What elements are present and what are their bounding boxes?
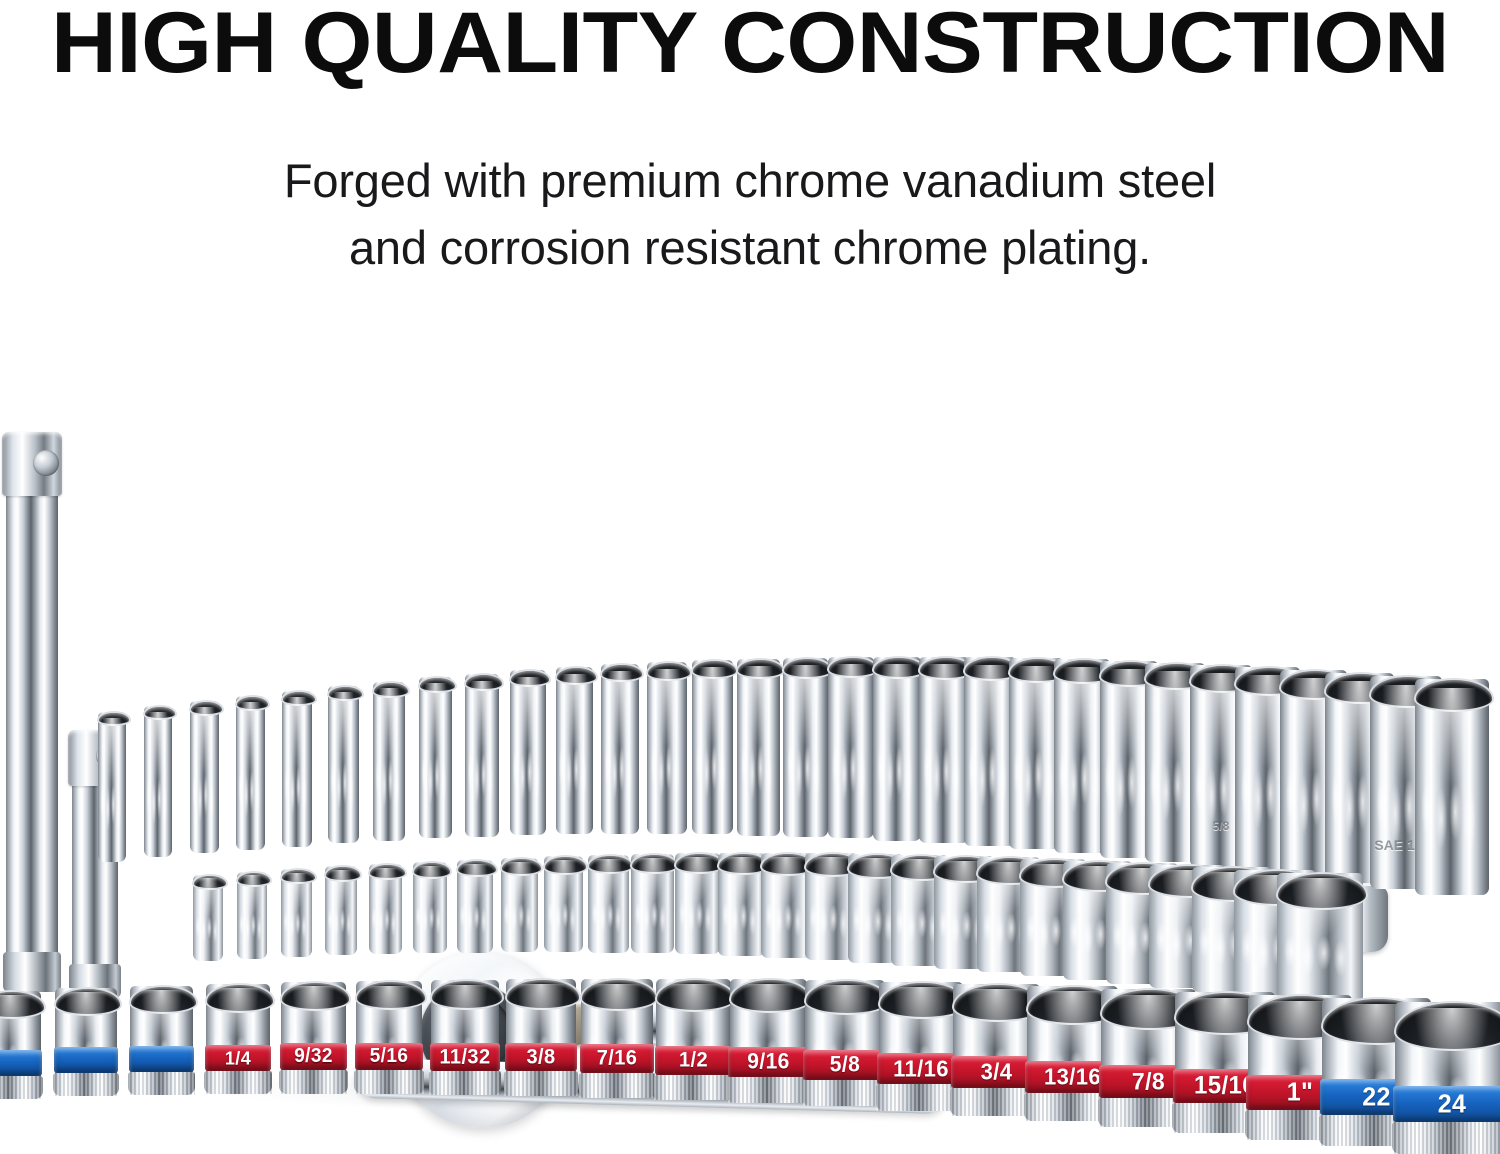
socket-hex-opening: [192, 874, 228, 890]
deep-socket: [556, 667, 593, 834]
socket-base-collar: [429, 1071, 501, 1095]
socket-barrel: [282, 691, 312, 847]
socket-barrel: [873, 657, 921, 841]
socket-base-collar: [0, 1076, 43, 1099]
socket-knurl-texture: [0, 1076, 43, 1099]
socket-size-label: 24: [1438, 1089, 1467, 1119]
socket-base-collar: [1392, 1122, 1500, 1154]
socket-barrel: [919, 657, 969, 843]
standard-socket: [544, 856, 583, 952]
socket-hex-opening: [600, 663, 644, 682]
deep-socket: [1415, 679, 1489, 895]
socket-hex-opening: [509, 669, 551, 687]
socket-barrel: [556, 667, 593, 834]
subtitle-line-1: Forged with premium chrome vanadium stee…: [0, 148, 1500, 215]
socket-hex-opening: [235, 695, 270, 711]
banded-socket: 24: [1395, 1002, 1500, 1154]
deep-socket: [373, 682, 405, 841]
deep-socket: [328, 686, 359, 843]
banded-socket: 3/8: [506, 979, 576, 1096]
socket-knurl-texture: [128, 1072, 195, 1095]
socket-hex-opening: [205, 983, 275, 1013]
socket-knurl-texture: [728, 1077, 810, 1103]
socket-hex-opening: [236, 871, 272, 887]
socket-base-collar: [279, 1070, 348, 1094]
socket-size-label: 9/16: [747, 1049, 789, 1074]
socket-hex-opening: [189, 700, 224, 716]
socket-base-collar: [204, 1071, 272, 1094]
extension-bar-female-end: [3, 952, 61, 992]
socket-size-label: 1": [1287, 1077, 1314, 1107]
page-title: HIGH QUALITY CONSTRUCTION: [0, 0, 1500, 88]
socket-hex-opening: [280, 981, 351, 1011]
socket-hex-opening: [827, 656, 879, 678]
socket-barrel: [601, 664, 639, 834]
standard-socket: [1277, 873, 1363, 1003]
socket-hex-opening: [97, 711, 131, 726]
banded-socket: 5/16: [356, 981, 422, 1094]
socket-barrel: [510, 670, 546, 835]
socket-hex-opening: [464, 673, 504, 691]
socket-size-label: 5/16: [370, 1045, 409, 1068]
socket-knurl-texture: [354, 1070, 424, 1094]
socket-base-collar: [654, 1075, 734, 1100]
socket-hex-opening: [327, 685, 364, 701]
socket-size-band-red: 9/16: [728, 1047, 808, 1077]
socket-size-label: 22: [1362, 1082, 1391, 1112]
socket-size-label: 11/16: [893, 1055, 949, 1082]
socket-base-collar: [354, 1070, 424, 1094]
socket-hex-opening: [804, 979, 890, 1015]
socket-barrel: [98, 712, 126, 862]
socket-hex-opening: [1414, 678, 1494, 712]
socket-hex-opening: [782, 657, 833, 679]
socket-hex-opening: [324, 865, 362, 882]
socket-barrel: [737, 659, 780, 836]
socket-hex-opening: [368, 863, 407, 880]
socket-size-band-red: 5/8: [803, 1050, 886, 1080]
socket-barrel: [328, 686, 359, 843]
socket-size-band-blue: [129, 1046, 195, 1072]
socket-size-label: 11/32: [440, 1045, 491, 1069]
socket-size-label: 13/16: [1044, 1063, 1101, 1090]
socket-size-label: 7/16: [597, 1046, 638, 1070]
socket-size-label: 1/4: [225, 1047, 251, 1069]
socket-hex-opening: [456, 859, 498, 877]
socket-knurl-texture: [279, 1070, 348, 1094]
product-feature-image: HIGH QUALITY CONSTRUCTION Forged with pr…: [0, 0, 1500, 1129]
socket-hex-opening: [691, 659, 738, 679]
socket-hex-opening: [129, 985, 198, 1014]
socket-size-band-blue: 24: [1393, 1086, 1500, 1122]
socket-size-band-blue: [0, 1050, 42, 1076]
socket-hex-opening: [655, 978, 736, 1012]
socket-base-collar: [53, 1073, 119, 1096]
socket-barrel: [419, 677, 452, 838]
standard-socket: [588, 855, 629, 953]
deep-socket: [873, 657, 921, 841]
standard-socket: [237, 872, 267, 959]
socket-base-collar: [504, 1071, 578, 1096]
subtitle-line-2: and corrosion resistant chrome plating.: [0, 215, 1500, 282]
deep-socket: [236, 696, 265, 850]
socket-knurl-texture: [654, 1075, 734, 1100]
deep-socket: [465, 674, 499, 837]
socket-hex-opening: [505, 978, 581, 1010]
socket-hex-opening: [500, 857, 543, 876]
deep-socket: [144, 706, 172, 857]
socket-set-photo: 5/8SAE 13/16: [0, 400, 1500, 1129]
extension-bar-shaft: [6, 462, 58, 972]
banded-socket: 7/16: [581, 979, 653, 1098]
standard-socket: [413, 862, 447, 953]
socket-hex-opening: [729, 978, 812, 1013]
socket-hex-opening: [587, 854, 634, 874]
standard-socket: [675, 853, 720, 954]
socket-size-band-red: 9/32: [280, 1043, 348, 1070]
socket-barrel: [647, 662, 687, 834]
standard-socket: [631, 854, 674, 953]
socket-size-band-blue: [54, 1047, 118, 1073]
socket-barrel: [236, 696, 265, 850]
socket-size-label: 9/32: [294, 1045, 333, 1068]
extension-bar-square-drive: [2, 432, 62, 496]
socket-size-label: 5/8: [830, 1052, 860, 1077]
socket-hex-opening: [143, 705, 177, 720]
socket-size-band-red: 7/16: [580, 1044, 655, 1073]
banded-socket: 11/32: [431, 980, 499, 1095]
socket-hex-opening: [418, 676, 457, 693]
socket-knurl-texture: [1392, 1122, 1500, 1154]
deep-socket: [692, 660, 733, 834]
socket-hex-opening: [280, 868, 317, 884]
socket-base-collar: [579, 1073, 655, 1098]
socket-size-label: 1/2: [679, 1048, 708, 1072]
socket-hex-opening: [355, 980, 427, 1010]
socket-size-label: 3/8: [527, 1045, 556, 1069]
socket-hex-opening: [630, 853, 679, 874]
socket-knurl-texture: [53, 1073, 119, 1096]
banded-socket: 5/8: [805, 980, 885, 1106]
deep-socket: [282, 691, 312, 847]
socket-knurl-texture: [504, 1071, 578, 1096]
socket-knurl-texture: [803, 1080, 888, 1106]
standard-socket: [193, 875, 223, 961]
socket-barrel: [828, 657, 874, 838]
banded-socket: 1/4: [206, 984, 270, 1094]
page-subtitle: Forged with premium chrome vanadium stee…: [0, 148, 1500, 281]
socket-barrel: [465, 674, 499, 837]
socket-knurl-texture: [579, 1073, 655, 1098]
standard-socket: [457, 860, 493, 953]
socket-size-band-red: 1/4: [205, 1045, 272, 1071]
banded-socket: 9/32: [281, 982, 346, 1094]
banded-socket: 1/2: [656, 979, 731, 1100]
socket-knurl-texture: [429, 1071, 501, 1095]
deep-socket: [783, 658, 828, 837]
socket-base-collar: [128, 1072, 195, 1095]
long-extension-bar: [6, 432, 58, 992]
deep-socket: [601, 664, 639, 834]
socket-hex-opening: [646, 661, 692, 681]
socket-barrel: [783, 658, 828, 837]
standard-socket: [718, 853, 765, 956]
socket-base-collar: [803, 1080, 888, 1106]
socket-barrel: [144, 706, 172, 857]
socket-hex-opening: [430, 979, 504, 1010]
deep-socket: [647, 662, 687, 834]
socket-size-label: 7/8: [1132, 1067, 1165, 1095]
standard-socket: [369, 864, 402, 954]
socket-size-band-red: 11/32: [430, 1043, 501, 1071]
socket-size-band-red: 3/8: [505, 1043, 578, 1071]
socket-hex-opening: [372, 681, 410, 698]
banded-socket: [55, 988, 117, 1096]
standard-socket: [325, 866, 357, 955]
deep-socket: [419, 677, 452, 838]
deep-socket: [737, 659, 780, 836]
banded-socket: [130, 986, 193, 1095]
detent-ball-icon: [33, 450, 59, 476]
socket-hex-opening: [412, 861, 452, 879]
socket-size-band-red: 1/2: [655, 1046, 733, 1075]
socket-barrel: [692, 660, 733, 834]
socket-barrel: [190, 701, 219, 853]
standard-socket: [281, 869, 312, 957]
socket-knurl-texture: [204, 1071, 272, 1094]
socket-barrel: [373, 682, 405, 841]
deep-socket: [98, 712, 126, 862]
banded-socket: 9/16: [730, 979, 807, 1103]
deep-socket: [919, 657, 969, 843]
socket-size-label: 3/4: [981, 1058, 1013, 1085]
socket-size-band-red: 5/16: [355, 1043, 424, 1070]
deep-socket: [190, 701, 219, 853]
socket-base-collar: [728, 1077, 810, 1103]
banded-socket: [0, 991, 41, 1099]
socket-hex-opening: [54, 987, 122, 1016]
deep-socket: [510, 670, 546, 835]
socket-hex-opening: [281, 690, 317, 706]
socket-hex-opening: [543, 855, 588, 875]
socket-hex-opening: [580, 978, 658, 1011]
socket-hex-opening: [555, 666, 598, 685]
standard-socket: [501, 858, 538, 952]
deep-socket: [828, 657, 874, 838]
socket-hex-opening: [736, 658, 785, 679]
